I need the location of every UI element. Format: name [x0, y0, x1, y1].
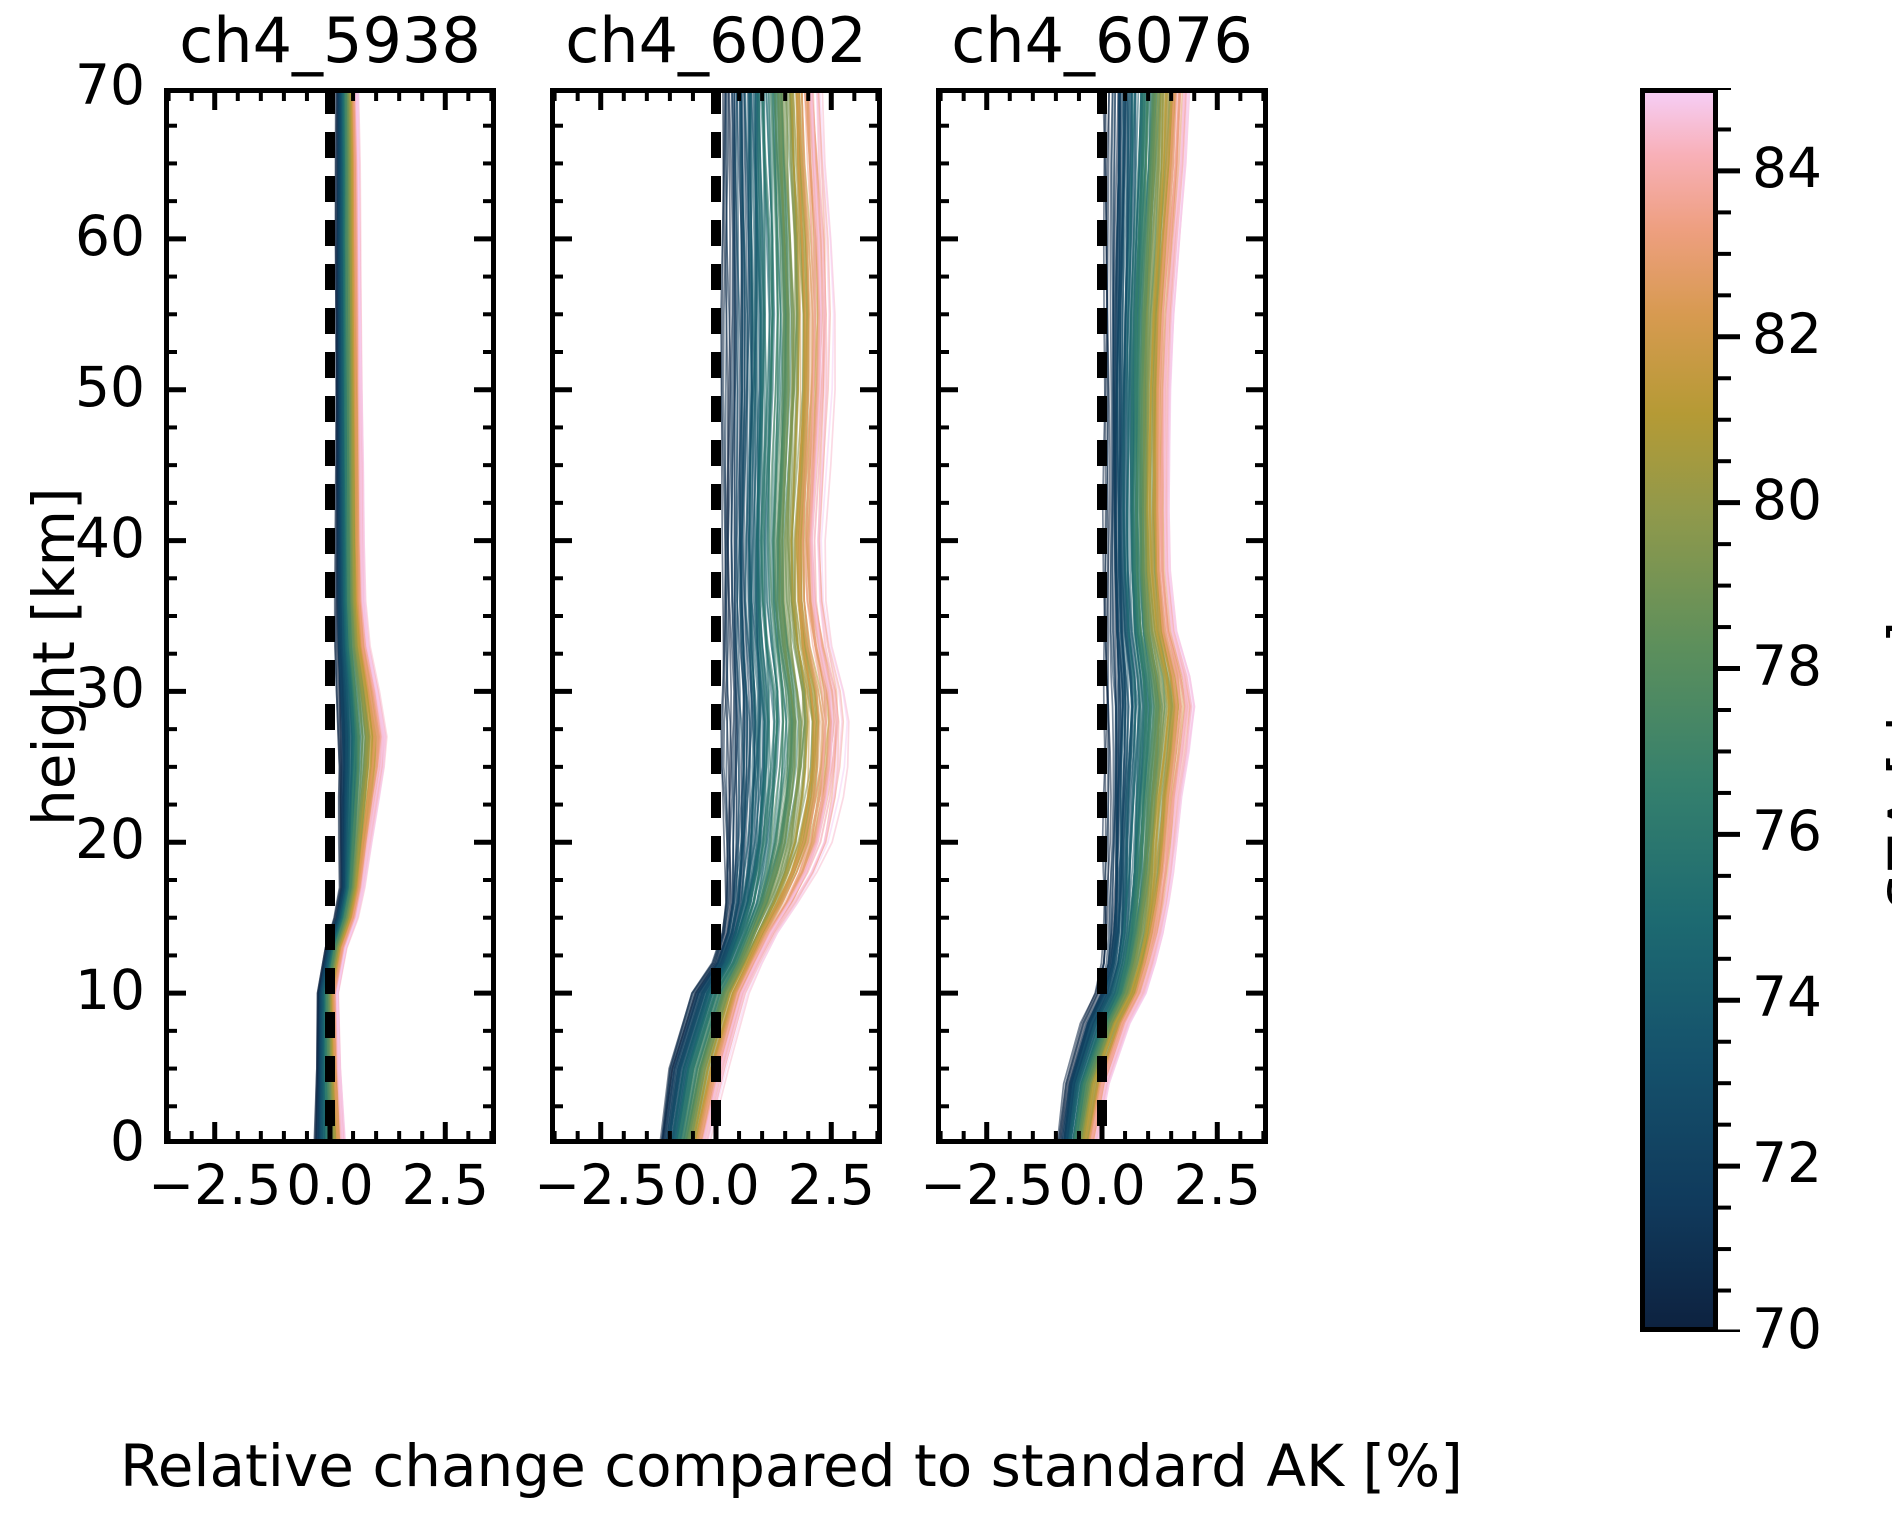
profile-lines-0	[164, 88, 496, 1144]
panel-title-ch4_6002: ch4_6002	[550, 10, 882, 72]
x-tick-label: 2.5	[1117, 1158, 1317, 1213]
profile-lines-1	[550, 88, 882, 1144]
profile-lines-2	[936, 88, 1268, 1144]
y-tick-label: 50	[10, 360, 145, 415]
y-tick-label: 60	[10, 209, 145, 264]
y-tick-label: 70	[10, 58, 145, 113]
colorbar-gradient	[1645, 93, 1713, 1327]
colorbar[interactable]	[1640, 88, 1718, 1332]
y-tick-label: 20	[10, 812, 145, 867]
panel-title-ch4_6076: ch4_6076	[936, 10, 1268, 72]
y-tick-label: 30	[10, 661, 145, 716]
plot-axes-ch4_5938[interactable]	[164, 88, 496, 1144]
plot-axes-ch4_6002[interactable]	[550, 88, 882, 1144]
colorbar-ticks	[1718, 88, 1778, 1332]
x-axis-label: Relative change compared to standard AK …	[120, 1432, 1380, 1500]
y-tick-label: 40	[10, 511, 145, 566]
colorbar-label: SZA [deg]	[1876, 621, 1892, 910]
panel-title-ch4_5938: ch4_5938	[164, 10, 496, 72]
figure-canvas: ch4_5938 ch4_6002 ch4_6076 height [km] R…	[0, 0, 1892, 1538]
plot-axes-ch4_6076[interactable]	[936, 88, 1268, 1144]
y-tick-label: 10	[10, 963, 145, 1018]
